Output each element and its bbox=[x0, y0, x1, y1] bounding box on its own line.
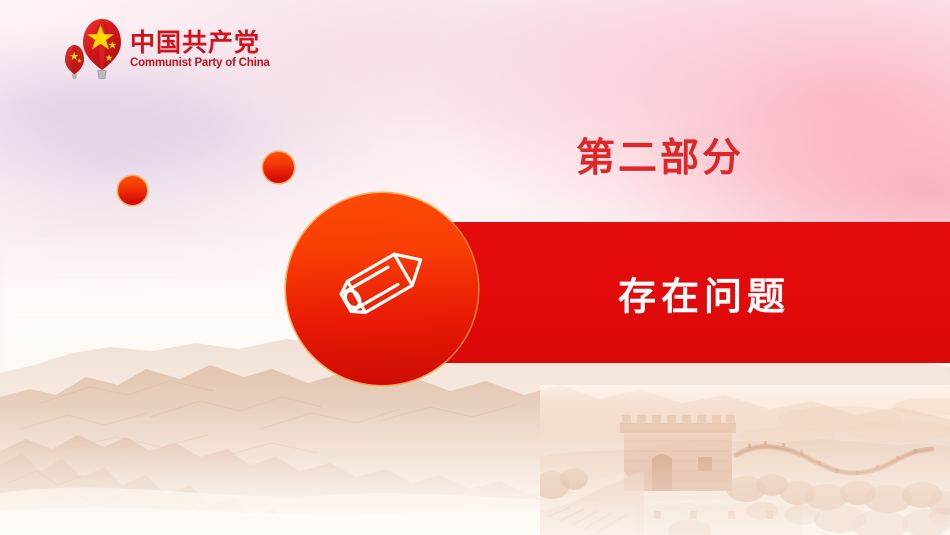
pencil-icon bbox=[326, 243, 438, 335]
decor-dot-upper bbox=[263, 152, 294, 183]
great-wall-illustration bbox=[540, 385, 950, 535]
party-name-english: Communist Party of China bbox=[130, 57, 270, 70]
section-icon-circle bbox=[286, 193, 478, 385]
party-logo-text: 中国共产党 Communist Party of China bbox=[130, 26, 270, 70]
presentation-slide: 中国共产党 Communist Party of China 第二部分 存在问题 bbox=[0, 0, 950, 535]
party-name-chinese: 中国共产党 bbox=[130, 30, 260, 56]
decor-dot-left bbox=[118, 176, 147, 205]
section-title: 存在问题 bbox=[618, 265, 790, 320]
hot-air-balloon-icon bbox=[62, 14, 126, 82]
section-number-heading: 第二部分 bbox=[576, 127, 744, 183]
party-logo: 中国共产党 Communist Party of China bbox=[62, 12, 277, 84]
